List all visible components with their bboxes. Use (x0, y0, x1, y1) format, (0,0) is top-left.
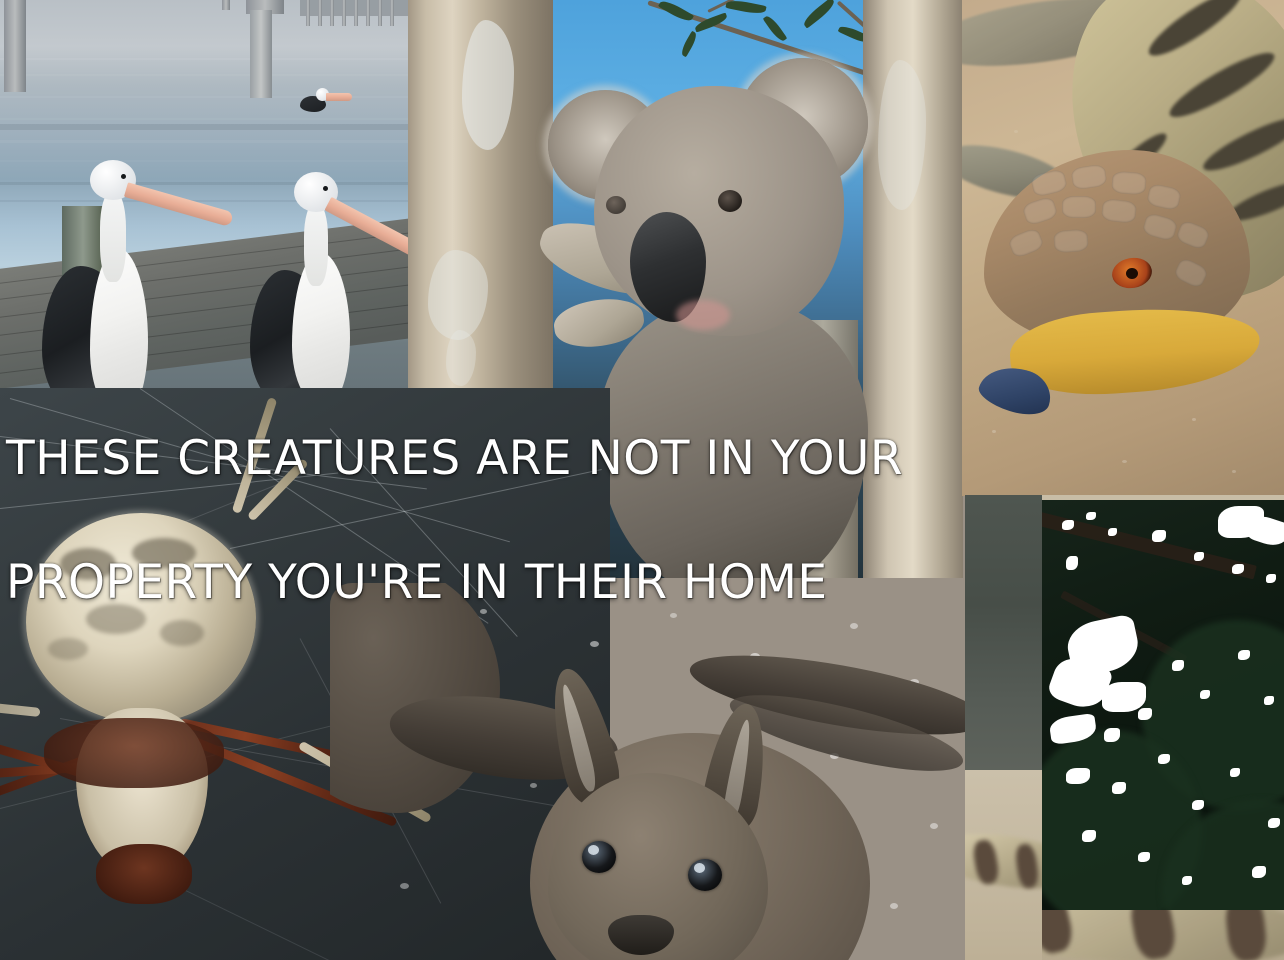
panel-sand-strip (965, 770, 1042, 960)
panel-slate-strip (965, 495, 1042, 770)
panel-forest-canopy (1042, 500, 1284, 910)
panel-pelicans (0, 0, 408, 390)
kangaroo-eye-left (582, 841, 616, 873)
meme-canvas: THESE CREATURES ARE NOT IN YOUR PROPERTY… (0, 0, 1284, 960)
caption-line-2: PROPERTY YOU'RE IN THEIR HOME (6, 552, 966, 614)
kangaroo-eye-right (688, 859, 722, 891)
caption-line-1: THESE CREATURES ARE NOT IN YOUR (6, 428, 966, 490)
panel-blue-tongue-lizard (962, 0, 1284, 496)
meme-caption: THESE CREATURES ARE NOT IN YOUR PROPERTY… (6, 366, 966, 676)
